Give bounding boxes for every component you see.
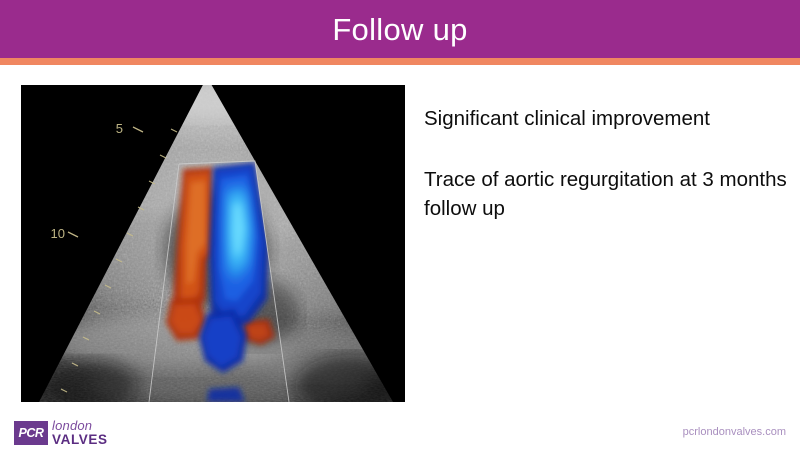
slide: Follow up bbox=[0, 0, 800, 450]
bullet-aortic-regurgitation: Trace of aortic regurgitation at 3 month… bbox=[424, 165, 790, 223]
slide-header-bar: Follow up bbox=[0, 0, 800, 58]
logo-wordmark: london VALVES bbox=[52, 419, 108, 447]
pcr-london-valves-logo: PCR london VALVES bbox=[14, 420, 108, 445]
body-text-block: Significant clinical improvement Trace o… bbox=[424, 104, 790, 223]
pcr-logo-text: PCR bbox=[19, 426, 44, 440]
echo-doppler-graphic: 5 10 bbox=[21, 85, 405, 402]
header-accent-stripe bbox=[0, 58, 800, 65]
footer-website-url[interactable]: pcrlondonvalves.com bbox=[683, 426, 786, 438]
echocardiogram-image: 5 10 bbox=[21, 85, 405, 402]
logo-london-text: london bbox=[52, 419, 108, 432]
page-title: Follow up bbox=[332, 14, 467, 45]
bullet-clinical-improvement: Significant clinical improvement bbox=[424, 104, 790, 133]
pcr-logo-mark: PCR bbox=[14, 421, 48, 445]
logo-valves-text: VALVES bbox=[52, 433, 108, 447]
depth-marker-10: 10 bbox=[51, 226, 65, 241]
depth-marker-5: 5 bbox=[116, 121, 123, 136]
